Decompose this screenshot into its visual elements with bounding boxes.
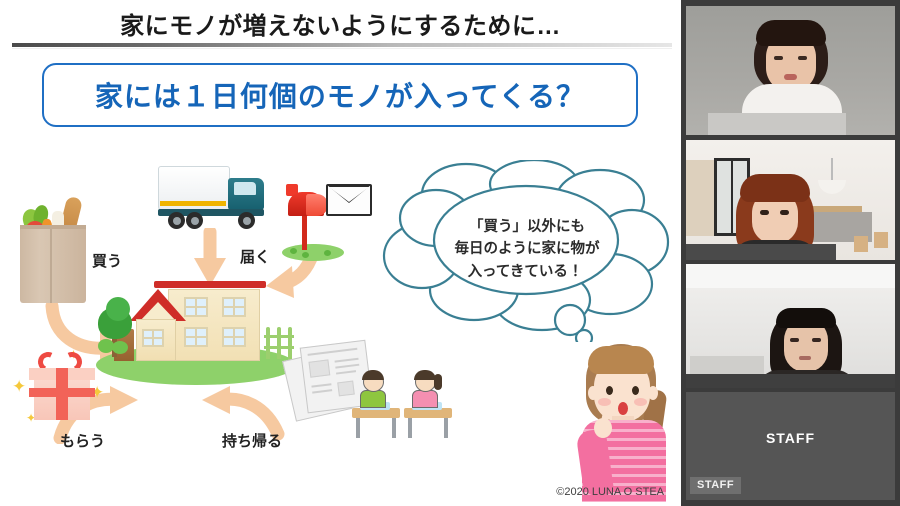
mailbox-icon — [280, 178, 342, 264]
title-divider — [12, 43, 672, 47]
title-divider-light — [12, 48, 672, 49]
label-receive: もらう — [60, 430, 105, 451]
thought-bubble: 「買う」以外にも 毎日のように家に物が 入ってきている ！ — [374, 160, 674, 342]
shared-slide: 家にモノが増えないようにするために… 家には１日何個のモノが入ってくる？ — [0, 0, 681, 506]
gift-box-icon: ✦ ✦ ✦ ✦ — [24, 350, 98, 426]
delivery-truck-icon — [158, 164, 270, 236]
house-icon — [96, 267, 296, 389]
thought-bubble-text: 「買う」以外にも 毎日のように家に物が 入ってきている ！ — [424, 216, 630, 283]
participant-tile-2[interactable] — [686, 140, 895, 260]
grocery-bag-icon — [14, 195, 92, 303]
meeting-screen-share-window: 家にモノが増えないようにするために… 家には１日何個のモノが入ってくる？ — [0, 0, 900, 506]
label-deliver: 届く — [240, 246, 270, 267]
page-title: 家にモノが増えないようにするために… — [0, 4, 681, 42]
copyright-notice: ©2020 LUNA O STEA — [0, 486, 672, 498]
question-box-text: 家には１日何個のモノが入ってくる？ — [95, 75, 585, 115]
thinking-woman-icon — [572, 338, 676, 502]
illustration-stage: 買う — [0, 132, 681, 506]
participant-tile-4[interactable]: STAFF STAFF — [686, 392, 895, 500]
envelope-icon — [326, 184, 372, 216]
participant-name-tag: STAFF — [690, 477, 741, 494]
participant-tile-3[interactable] — [686, 264, 895, 388]
participant-tile-1[interactable] — [686, 6, 895, 135]
school-kids-icon — [352, 372, 458, 440]
question-box: 家には１日何個のモノが入ってくる？ — [42, 63, 638, 127]
participant-video-rail: STAFF STAFF — [681, 0, 900, 506]
label-bring-home: 持ち帰る — [222, 430, 282, 451]
camera-off-placeholder-text: STAFF — [686, 430, 895, 446]
